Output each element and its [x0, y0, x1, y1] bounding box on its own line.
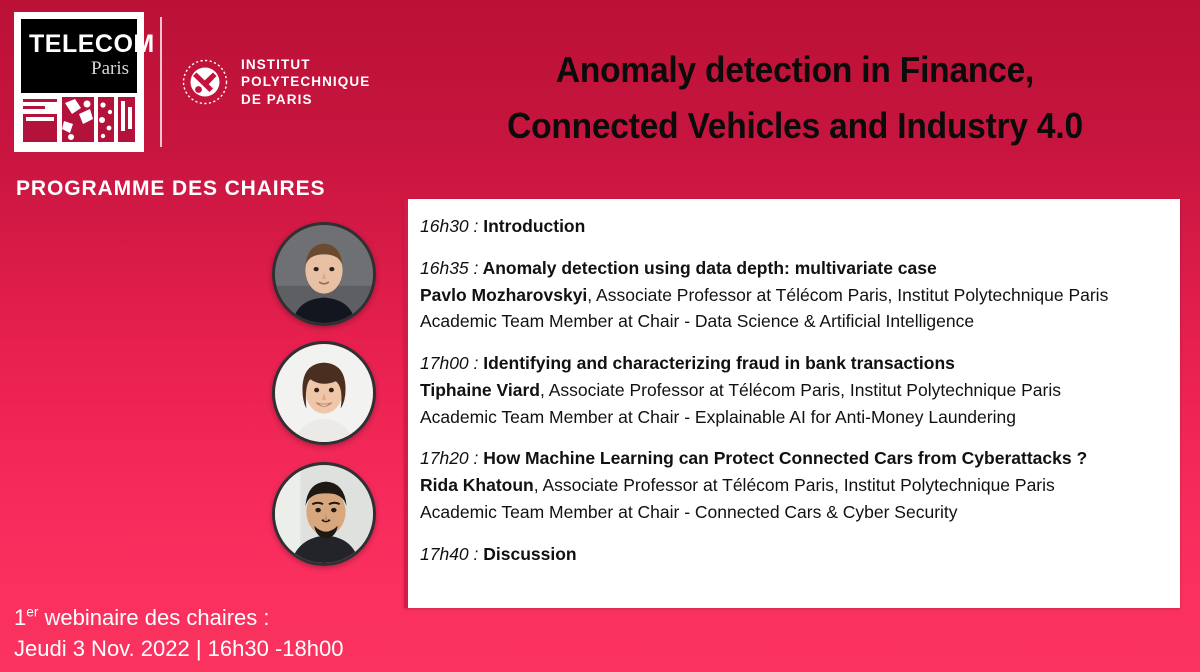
entry-time: 16h35 : [420, 258, 478, 278]
entry-time: 17h40 : [420, 544, 478, 564]
programme-entry-headline: 17h40 : Discussion [420, 541, 1170, 568]
entry-speaker-affiliation: , Associate Professor at Télécom Paris, … [540, 380, 1061, 400]
programme-entry-headline: 17h20 : How Machine Learning can Protect… [420, 445, 1170, 472]
footer-line-1: 1er webinaire des chaires : [14, 602, 343, 633]
programme-entry-speaker-line: Tiphaine Viard, Associate Professor at T… [420, 377, 1170, 404]
footer-ordinal: 1 [14, 605, 26, 630]
entry-chair-line: Academic Team Member at Chair - Explaina… [420, 404, 1170, 431]
avatar-speaker-3 [272, 462, 376, 566]
programme-entry: 17h00 : Identifying and characterizing f… [420, 350, 1170, 430]
entry-talk-title: Anomaly detection using data depth: mult… [478, 258, 936, 278]
poster-title-line-1: Anomaly detection in Finance, [428, 42, 1163, 98]
programme-entry-speaker-line: Rida Khatoun, Associate Professor at Tél… [420, 472, 1170, 499]
logo-divider [160, 17, 162, 147]
telecom-paris-logo-telecom: TELECOM [29, 32, 131, 57]
institut-polytechnique-logo: INSTITUT POLYTECHNIQUE DE PARIS [182, 56, 370, 108]
entry-time: 16h30 : [420, 216, 478, 236]
telecom-pattern-icon [21, 93, 137, 145]
entry-talk-title: Introduction [478, 216, 585, 236]
entry-talk-title: How Machine Learning can Protect Connect… [478, 448, 1087, 468]
entry-talk-title: Identifying and characterizing fraud in … [478, 353, 954, 373]
poster-title-line-2: Connected Vehicles and Industry 4.0 [428, 98, 1163, 154]
ipp-mark-icon [182, 59, 228, 105]
webinar-poster: TELECOM Paris [0, 0, 1200, 672]
programme-entry-speaker-line: Pavlo Mozharovskyi, Associate Professor … [420, 282, 1170, 309]
programme-entry: 16h35 : Anomaly detection using data dep… [420, 255, 1170, 335]
section-label: PROGRAMME DES CHAIRES [16, 177, 325, 201]
programme-entry: 16h30 : Introduction [420, 213, 1170, 240]
entry-chair-line: Academic Team Member at Chair - Connecte… [420, 499, 1170, 526]
avatar-speaker-2 [272, 341, 376, 445]
programme-entry: 17h40 : Discussion [420, 541, 1170, 568]
ipp-line-3: DE PARIS [241, 91, 370, 108]
entry-speaker-name: Pavlo Mozharovskyi [420, 285, 587, 305]
entry-chair-line: Academic Team Member at Chair - Data Sci… [420, 308, 1170, 335]
footer-event-details: 1er webinaire des chaires : Jeudi 3 Nov.… [14, 602, 343, 664]
entry-speaker-affiliation: , Associate Professor at Télécom Paris, … [587, 285, 1108, 305]
footer-line-1-text: webinaire des chaires : [38, 605, 269, 630]
ipp-line-2: POLYTECHNIQUE [241, 73, 370, 90]
ipp-line-1: INSTITUT [241, 56, 370, 73]
ipp-wordmark: INSTITUT POLYTECHNIQUE DE PARIS [241, 56, 370, 108]
poster-title: Anomaly detection in Finance, Connected … [428, 42, 1163, 154]
portrait-image-3 [275, 465, 373, 563]
avatar-speaker-1 [272, 222, 376, 326]
entry-speaker-affiliation: , Associate Professor at Télécom Paris, … [534, 475, 1055, 495]
portrait-image-2 [275, 344, 373, 442]
programme-panel: 16h30 : Introduction 16h35 : Anomaly det… [404, 199, 1180, 608]
entry-talk-title: Discussion [478, 544, 576, 564]
programme-list: 16h30 : Introduction 16h35 : Anomaly det… [408, 199, 1180, 567]
telecom-paris-logo-paris: Paris [29, 59, 131, 78]
logo-block: TELECOM Paris [14, 12, 370, 152]
programme-entry: 17h20 : How Machine Learning can Protect… [420, 445, 1170, 525]
footer-ordinal-suffix: er [26, 604, 38, 619]
programme-entry-headline: 17h00 : Identifying and characterizing f… [420, 350, 1170, 377]
footer-line-2: Jeudi 3 Nov. 2022 | 16h30 -18h00 [14, 633, 343, 664]
telecom-paris-logo-pattern [21, 93, 137, 145]
entry-speaker-name: Rida Khatoun [420, 475, 534, 495]
programme-entry-headline: 16h35 : Anomaly detection using data dep… [420, 255, 1170, 282]
entry-time: 17h20 : [420, 448, 478, 468]
programme-entry-headline: 16h30 : Introduction [420, 213, 1170, 240]
telecom-paris-logo: TELECOM Paris [14, 12, 144, 152]
entry-speaker-name: Tiphaine Viard [420, 380, 540, 400]
telecom-paris-wordmark: TELECOM Paris [21, 19, 137, 93]
portrait-image-1 [275, 225, 373, 323]
entry-time: 17h00 : [420, 353, 478, 373]
